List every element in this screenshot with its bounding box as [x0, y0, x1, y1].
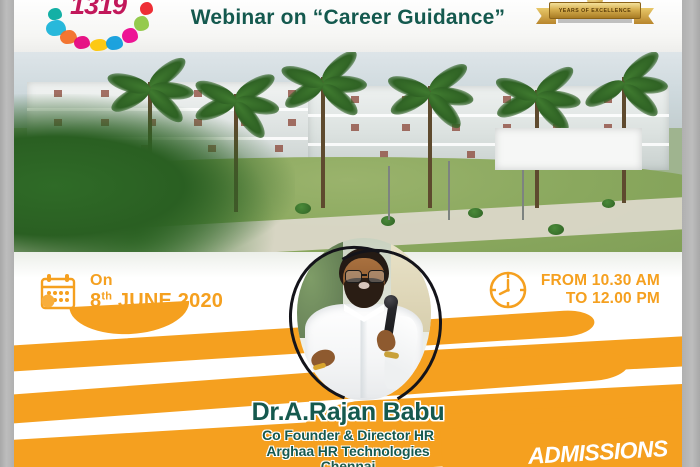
date-prefix: On — [90, 272, 223, 290]
splat-magenta — [74, 36, 90, 49]
shrub — [468, 208, 483, 218]
right-border-rail — [682, 0, 700, 467]
lamp-post — [388, 166, 390, 221]
ribbon-band: YEARS OF EXCELLENCE — [549, 2, 641, 19]
event-time-text: FROM 10.30 AM TO 12.00 PM — [541, 272, 660, 309]
date-day: 8 — [90, 290, 101, 312]
date-month-year: JUNE 2020 — [118, 290, 223, 312]
date-value: 8th JUNE 2020 — [90, 290, 223, 312]
left-border-rail — [0, 0, 14, 467]
window — [351, 124, 359, 131]
lamp-post — [522, 170, 524, 220]
lamp-post — [448, 161, 450, 220]
anniversary-number: 1319 — [70, 0, 126, 21]
speaker-details: Dr.A.Rajan Babu Co Founder & Director HR… — [14, 398, 682, 467]
poster-header: 1319 Webinar on “Career Guidance” YEARS … — [14, 0, 682, 52]
foreground-foliage — [14, 94, 295, 258]
date-day-suffix: th — [101, 290, 112, 302]
college-campus-photo — [14, 48, 682, 258]
event-date-block: On 8th JUNE 2020 — [38, 272, 223, 312]
splat-pink — [122, 28, 138, 43]
palm-tree — [321, 77, 325, 207]
calendar-icon — [38, 272, 78, 312]
event-date-text: On 8th JUNE 2020 — [90, 272, 223, 312]
years-of-excellence-badge: YEARS OF EXCELLENCE — [536, 0, 654, 30]
time-from: FROM 10.30 AM — [541, 272, 660, 290]
palm-tree — [428, 86, 432, 208]
speaker-organization: Arghaa HR Technologies — [14, 444, 682, 460]
poster-canvas: 1319 Webinar on “Career Guidance” YEARS … — [14, 0, 682, 467]
event-time-block: FROM 10.30 AM TO 12.00 PM — [486, 268, 660, 312]
webinar-poster: 1319 Webinar on “Career Guidance” YEARS … — [0, 0, 700, 467]
building-floor-line — [308, 114, 669, 117]
clock-icon — [486, 268, 530, 312]
time-to: TO 12.00 PM — [541, 290, 660, 308]
speaker-portrait — [291, 238, 437, 406]
campus-portico — [495, 128, 642, 170]
splat-blue — [106, 36, 123, 50]
speaker-extra-line: Chennai — [14, 459, 682, 467]
window — [402, 124, 410, 131]
window — [467, 151, 475, 158]
ribbon-label: YEARS OF EXCELLENCE — [559, 8, 631, 14]
speaker-name: Dr.A.Rajan Babu — [14, 398, 682, 426]
speaker-role: Co Founder & Director HR — [14, 428, 682, 444]
